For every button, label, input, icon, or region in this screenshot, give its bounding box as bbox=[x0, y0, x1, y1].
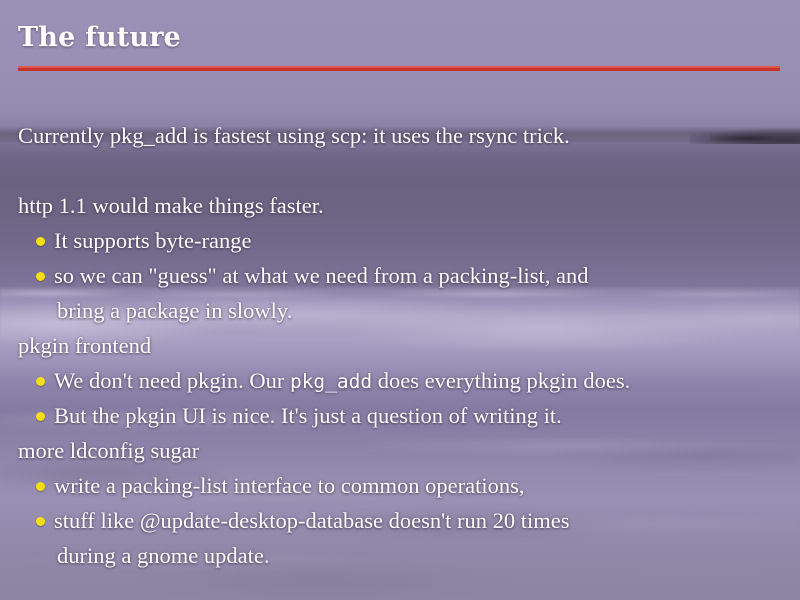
bullet-line: so we can "guess" at what we need from a… bbox=[0, 258, 800, 293]
bullet-dot-icon bbox=[36, 272, 45, 281]
line-text: write a packing-list interface to common… bbox=[54, 473, 524, 498]
bullet-dot-icon bbox=[36, 237, 45, 246]
body-line: http 1.1 would make things faster. bbox=[0, 188, 800, 223]
bullet-dot-icon bbox=[36, 377, 45, 386]
bullet-dot-icon bbox=[36, 482, 45, 491]
bullet-continuation-line: during a gnome update. bbox=[0, 538, 800, 573]
bullet-continuation-line: bring a package in slowly. bbox=[0, 293, 800, 328]
bullet-line: It supports byte-range bbox=[0, 223, 800, 258]
spacer-line bbox=[0, 153, 800, 188]
line-text: stuff like @update-desktop-database does… bbox=[54, 508, 570, 533]
bullet-dot-icon bbox=[36, 412, 45, 421]
slide-title: The future bbox=[18, 24, 181, 51]
title-underline-rule bbox=[18, 66, 780, 71]
body-line: more ldconfig sugar bbox=[0, 433, 800, 468]
line-text: http 1.1 would make things faster. bbox=[18, 193, 324, 218]
line-text: during a gnome update. bbox=[57, 543, 269, 568]
line-text: more ldconfig sugar bbox=[18, 438, 199, 463]
line-text: But the pkgin UI is nice. It's just a qu… bbox=[54, 403, 562, 428]
bullet-line: write a packing-list interface to common… bbox=[0, 468, 800, 503]
line-text: It supports byte-range bbox=[54, 228, 251, 253]
slide-content: The future Currently pkg_add is fastest … bbox=[0, 0, 800, 600]
line-text: so we can "guess" at what we need from a… bbox=[54, 263, 588, 288]
bullet-line: stuff like @update-desktop-database does… bbox=[0, 503, 800, 538]
slide-body: Currently pkg_add is fastest using scp: … bbox=[0, 118, 800, 573]
line-text: does everything pkgin does. bbox=[372, 368, 630, 393]
body-line: pkgin frontend bbox=[0, 328, 800, 363]
line-text: pkgin frontend bbox=[18, 333, 151, 358]
bullet-line: But the pkgin UI is nice. It's just a qu… bbox=[0, 398, 800, 433]
line-text: bring a package in slowly. bbox=[57, 298, 292, 323]
code-text: pkg_add bbox=[290, 370, 372, 393]
presentation-slide: The future Currently pkg_add is fastest … bbox=[0, 0, 800, 600]
body-line: Currently pkg_add is fastest using scp: … bbox=[0, 118, 800, 153]
bullet-line: We don't need pkgin. Our pkg_add does ev… bbox=[0, 363, 800, 398]
line-text: We don't need pkgin. Our bbox=[54, 368, 290, 393]
bullet-dot-icon bbox=[36, 517, 45, 526]
line-text: Currently pkg_add is fastest using scp: … bbox=[18, 123, 570, 148]
